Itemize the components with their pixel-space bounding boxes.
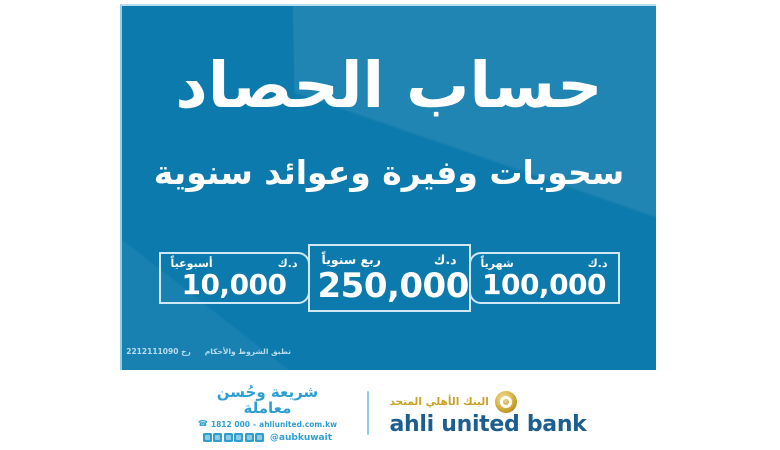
contact-line: ☎ 1812 000 - ahliunited.com.kw (193, 420, 341, 429)
instagram-icon[interactable] (213, 433, 222, 442)
brand-name-arabic: البنك الأهلي المتحد (389, 396, 488, 408)
calligraphy-slogan: شريعة وحُسن معاملة (193, 384, 341, 417)
social-handle[interactable]: @aubkuwait (270, 433, 332, 443)
prize-group: د.ك شهرياً 100,000 د.ك ربع سنوياً 250,00… (122, 244, 656, 312)
contact-separator: - (253, 420, 256, 429)
phone-number[interactable]: 1812 000 (211, 420, 250, 429)
advertisement-banner: حساب الحصاد سحوبات وفيرة وعوائد سنوية د.… (0, 0, 780, 450)
linkedin-icon[interactable] (255, 433, 264, 442)
aub-circular-emblem-icon (495, 391, 517, 413)
phone-handset-icon: ☎ (198, 420, 208, 428)
twitter-icon[interactable] (245, 433, 254, 442)
footer: شريعة وحُسن معاملة ☎ 1812 000 - ahliunit… (0, 382, 780, 444)
prize-frequency-quarterly: ربع سنوياً (322, 254, 381, 267)
snapchat-icon[interactable] (234, 433, 243, 442)
terms-text: تطبق الشروط والأحكام (205, 347, 291, 356)
prize-currency-quarterly: د.ك (434, 254, 457, 267)
prize-card-weekly: د.ك أسبوعياً 10,000 (159, 252, 310, 304)
prize-amount-monthly: 100,000 (477, 271, 612, 299)
subtitle: سحوبات وفيرة وعوائد سنوية (122, 156, 656, 189)
prize-card-monthly: د.ك شهرياً 100,000 (469, 252, 620, 304)
terms-reference: رخ 2212111090 (126, 347, 191, 356)
page-title: حساب الحصاد (122, 54, 656, 117)
terms-reference-label: رخ (181, 347, 191, 356)
terms-reference-number: 2212111090 (126, 347, 178, 356)
website-link[interactable]: ahliunited.com.kw (259, 420, 337, 429)
prize-card-quarterly: د.ك ربع سنوياً 250,000 (308, 244, 471, 312)
footer-divider (367, 391, 369, 435)
prize-amount-weekly: 10,000 (167, 271, 302, 299)
youtube-icon[interactable] (224, 433, 233, 442)
footer-contact-block: شريعة وحُسن معاملة ☎ 1812 000 - ahliunit… (193, 384, 351, 443)
terms-and-conditions: تطبق الشروط والأحكام رخ 2212111090 (126, 347, 291, 356)
prize-label-quarterly: د.ك ربع سنوياً (318, 254, 461, 267)
hero-panel: حساب الحصاد سحوبات وفيرة وعوائد سنوية د.… (120, 4, 656, 370)
brand-logo-top: البنك الأهلي المتحد (389, 391, 516, 413)
brand-name-english: ahli united bank (389, 414, 586, 436)
prize-amount-quarterly: 250,000 (318, 269, 461, 303)
brand-logo-block: البنك الأهلي المتحد ahli united bank (385, 391, 586, 436)
facebook-icon[interactable] (203, 433, 212, 442)
social-icons-row: @aubkuwait (193, 433, 341, 443)
